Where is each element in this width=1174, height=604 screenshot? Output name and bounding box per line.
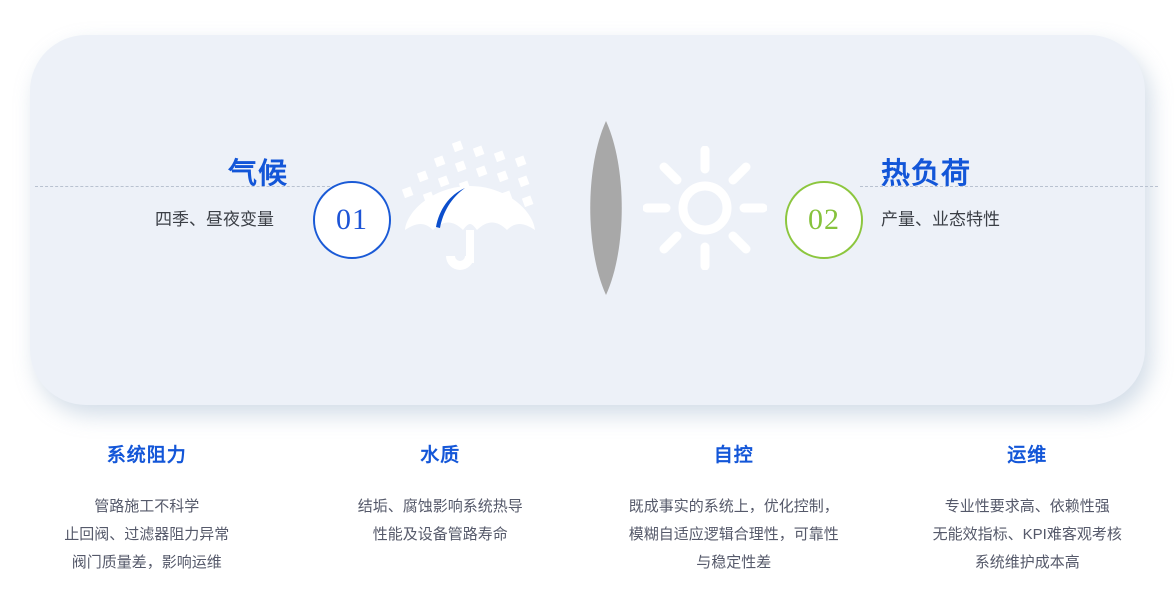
issue-column-title: 水质 xyxy=(302,440,580,467)
issue-column-title: 自控 xyxy=(595,440,873,467)
issue-column: 系统阻力管路施工不科学止回阀、过滤器阻力异常阀门质量差，影响运维 xyxy=(0,440,294,576)
issue-column-line: 结垢、腐蚀影响系统热导 xyxy=(302,493,580,521)
issue-column: 自控既成事实的系统上，优化控制，模糊自适应逻辑合理性，可靠性与稳定性差 xyxy=(587,440,881,576)
issue-column-line: 无能效指标、KPI难客观考核 xyxy=(889,521,1167,549)
heat-load-title: 热负荷 xyxy=(881,150,971,192)
heat-load-subtitle: 产量、业态特性 xyxy=(881,205,1000,230)
climate-title: 气候 xyxy=(228,150,288,192)
issue-column-line: 止回阀、过滤器阻力异常 xyxy=(8,521,286,549)
issue-column-line: 性能及设备管路寿命 xyxy=(302,521,580,549)
dashed-rule-left xyxy=(35,186,335,187)
sun-icon xyxy=(643,146,767,270)
badge-01[interactable]: 01 xyxy=(313,181,391,259)
issue-column-line: 阀门质量差，影响运维 xyxy=(8,549,286,577)
climate-subtitle: 四季、昼夜变量 xyxy=(155,205,274,230)
issue-column-title: 运维 xyxy=(889,440,1167,467)
issue-columns: 系统阻力管路施工不科学止回阀、过滤器阻力异常阀门质量差，影响运维水质结垢、腐蚀影… xyxy=(0,440,1174,576)
issue-column-line: 与稳定性差 xyxy=(595,549,873,577)
issue-column-line: 既成事实的系统上，优化控制， xyxy=(595,493,873,521)
issue-column: 水质结垢、腐蚀影响系统热导性能及设备管路寿命 xyxy=(294,440,588,576)
badge-02[interactable]: 02 xyxy=(785,181,863,259)
issue-column-title: 系统阻力 xyxy=(8,440,286,467)
issue-column-line: 系统维护成本高 xyxy=(889,549,1167,577)
issue-column: 运维专业性要求高、依赖性强无能效指标、KPI难客观考核系统维护成本高 xyxy=(881,440,1174,576)
issue-column-line: 专业性要求高、依赖性强 xyxy=(889,493,1167,521)
overlap-lens-shape xyxy=(585,121,627,295)
issue-column-line: 模糊自适应逻辑合理性，可靠性 xyxy=(595,521,873,549)
rain-umbrella-icon xyxy=(395,138,545,278)
issue-column-line: 管路施工不科学 xyxy=(8,493,286,521)
